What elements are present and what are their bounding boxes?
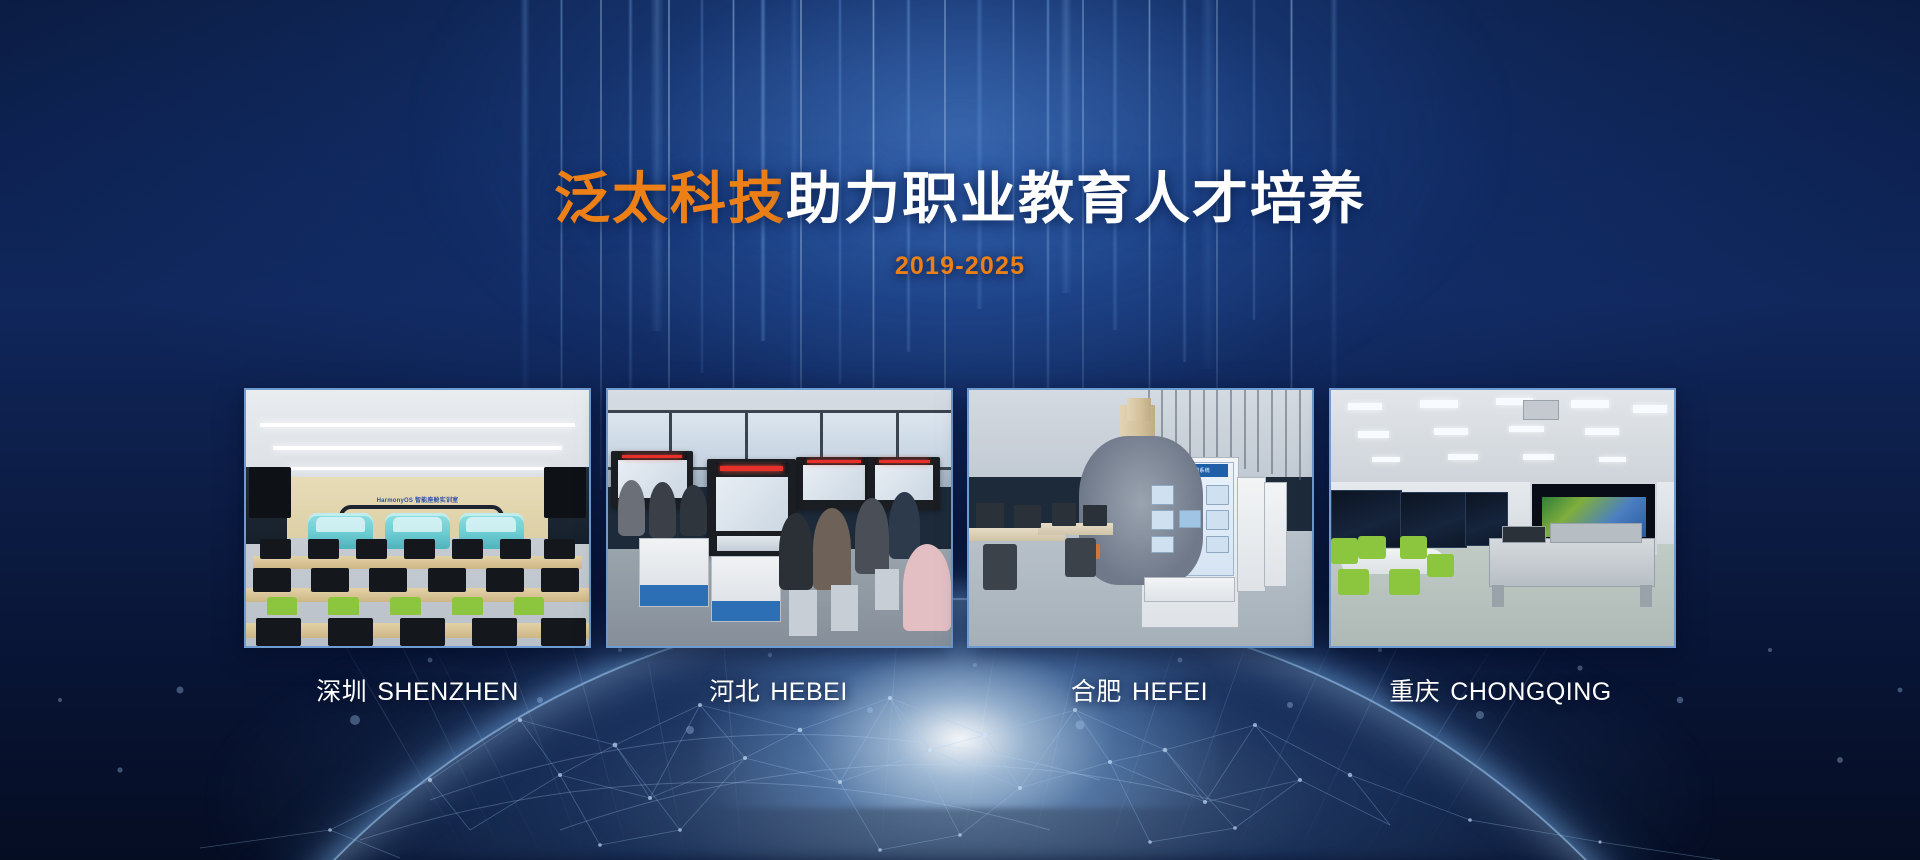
classroom-sign-shenzhen: HarmonyOS 智能座舱实训室 <box>342 495 493 513</box>
photo-gallery: HarmonyOS 智能座舱实训室 <box>244 388 1676 648</box>
photo-card-chongqing[interactable] <box>1329 388 1676 648</box>
photo-shenzhen-smart-cabin-classroom: HarmonyOS 智能座舱实训室 <box>246 390 589 646</box>
caption-shenzhen-cn: 深圳 <box>316 678 367 706</box>
photo-card-shenzhen[interactable]: HarmonyOS 智能座舱实训室 <box>244 388 591 648</box>
photo-captions: 深圳SHENZHEN 河北HEBEI 合肥HEFEI 重庆CHONGQING <box>244 672 1676 708</box>
caption-shenzhen: 深圳SHENZHEN <box>244 672 591 708</box>
photo-hebei-industrial-training-room <box>608 390 951 646</box>
caption-hefei-en: HEFEI <box>1132 678 1208 706</box>
title-rest: 助力职业教育人才培养 <box>786 167 1366 230</box>
caption-hefei: 合肥HEFEI <box>966 672 1313 708</box>
caption-chongqing: 重庆CHONGQING <box>1327 672 1674 708</box>
caption-chongqing-cn: 重庆 <box>1389 678 1440 706</box>
caption-hefei-cn: 合肥 <box>1071 678 1122 706</box>
photo-card-hebei[interactable] <box>606 388 953 648</box>
caption-hebei-cn: 河北 <box>709 678 760 706</box>
photo-hefei-automotive-electronics-lab: 智能车载控制系统 <box>969 390 1312 646</box>
caption-hebei: 河北HEBEI <box>605 672 952 708</box>
title-block: 泛太科技助力职业教育人才培养 2019-2025 <box>0 168 1920 281</box>
promo-banner: 泛太科技助力职业教育人才培养 2019-2025 HarmonyOS 智能座舱实… <box>0 0 1920 860</box>
subtitle-year-range: 2019-2025 <box>0 252 1920 281</box>
caption-hebei-en: HEBEI <box>770 678 848 706</box>
brand-name: 泛太科技 <box>554 167 786 230</box>
page-title: 泛太科技助力职业教育人才培养 <box>0 168 1920 230</box>
photo-chongqing-smart-manufacturing-lab <box>1331 390 1674 646</box>
caption-chongqing-en: CHONGQING <box>1450 678 1611 706</box>
photo-card-hefei[interactable]: 智能车载控制系统 <box>967 388 1314 648</box>
caption-shenzhen-en: SHENZHEN <box>377 678 519 706</box>
